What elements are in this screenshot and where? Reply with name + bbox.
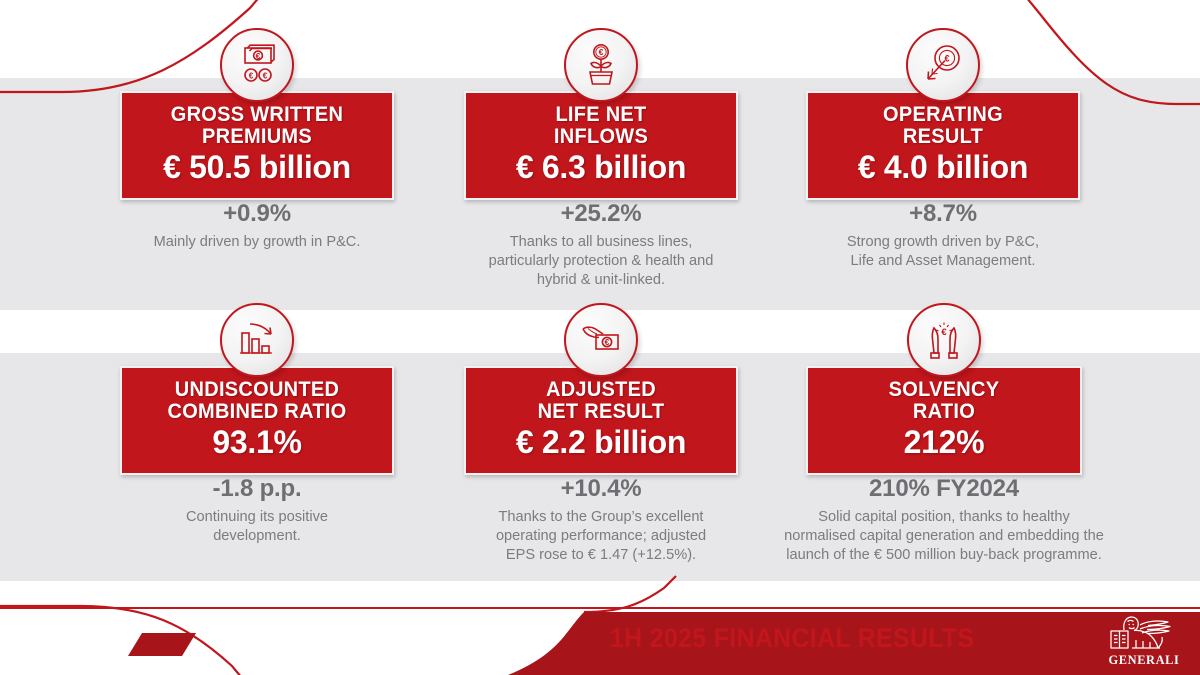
svg-text:€: € bbox=[249, 71, 254, 80]
euro-target-arrow-icon: € bbox=[906, 28, 980, 102]
metric-title: GROSS WRITTEN PREMIUMS bbox=[139, 103, 375, 147]
metric-detail: 210% FY2024 Solid capital position, than… bbox=[764, 475, 1124, 565]
svg-text:€: € bbox=[605, 337, 610, 347]
infographic-slide: € € € GROSS WRITTEN PREMIUMS € 50.5 bill… bbox=[0, 0, 1200, 675]
metric-note: Mainly driven by growth in P&C. bbox=[104, 233, 410, 252]
svg-text:€: € bbox=[263, 71, 268, 80]
metric-title: SOLVENCY RATIO bbox=[825, 378, 1063, 422]
metric-plaque: SOLVENCY RATIO 212% bbox=[806, 366, 1082, 475]
metric-note: Thanks to the Group’s excellent operatin… bbox=[448, 508, 754, 565]
banknotes-coins-icon: € € € bbox=[220, 28, 294, 102]
metric-title: OPERATING RESULT bbox=[825, 103, 1061, 147]
metric-delta: +10.4% bbox=[448, 475, 754, 503]
metric-plaque: LIFE NET INFLOWS € 6.3 billion bbox=[464, 91, 738, 200]
metric-delta: +0.9% bbox=[104, 200, 410, 228]
metric-title: LIFE NET INFLOWS bbox=[483, 103, 719, 147]
metric-note: Thanks to all business lines, particular… bbox=[448, 233, 754, 290]
metrics-grid: € € € GROSS WRITTEN PREMIUMS € 50.5 bill… bbox=[0, 0, 1200, 600]
svg-text:€: € bbox=[599, 47, 604, 57]
metric-plaque: GROSS WRITTEN PREMIUMS € 50.5 billion bbox=[120, 91, 394, 200]
metric-title: UNDISCOUNTED COMBINED RATIO bbox=[139, 378, 375, 422]
metric-delta: 210% FY2024 bbox=[764, 475, 1124, 503]
metric-value: € 50.5 billion bbox=[130, 150, 384, 186]
metric-note: Continuing its positive development. bbox=[116, 508, 398, 546]
generali-wordmark: GENERALI bbox=[1102, 653, 1186, 668]
hand-euro-banknote-icon: € bbox=[564, 303, 638, 377]
generali-logo[interactable]: GENERALI bbox=[1102, 611, 1186, 669]
metric-delta: -1.8 p.p. bbox=[116, 475, 398, 503]
metric-value: 212% bbox=[816, 425, 1072, 461]
metric-value: € 6.3 billion bbox=[474, 150, 728, 186]
metric-value: 93.1% bbox=[130, 425, 384, 461]
metric-note: Solid capital position, thanks to health… bbox=[764, 508, 1124, 565]
hands-holding-euro-icon: € bbox=[907, 303, 981, 377]
metric-note: Strong growth driven by P&C, Life and As… bbox=[790, 233, 1096, 271]
metric-plaque: ADJUSTED NET RESULT € 2.2 billion bbox=[464, 366, 738, 475]
svg-text:€: € bbox=[941, 327, 947, 338]
euro-plant-growth-icon: € bbox=[564, 28, 638, 102]
metric-delta: +25.2% bbox=[448, 200, 754, 228]
metric-detail: +10.4% Thanks to the Group’s excellent o… bbox=[448, 475, 754, 565]
metric-plaque: OPERATING RESULT € 4.0 billion bbox=[806, 91, 1080, 200]
svg-text:€: € bbox=[256, 51, 261, 61]
metric-value: € 4.0 billion bbox=[816, 150, 1070, 186]
winged-lion-icon bbox=[1102, 611, 1186, 657]
metric-detail: -1.8 p.p. Continuing its positive develo… bbox=[116, 475, 398, 546]
metric-detail: +0.9% Mainly driven by growth in P&C. bbox=[104, 200, 410, 252]
metric-value: € 2.2 billion bbox=[474, 425, 728, 461]
svg-text:€: € bbox=[944, 53, 949, 63]
metric-delta: +8.7% bbox=[790, 200, 1096, 228]
metric-detail: +25.2% Thanks to all business lines, par… bbox=[448, 200, 754, 290]
metric-detail: +8.7% Strong growth driven by P&C, Life … bbox=[790, 200, 1096, 271]
footer-title: 1H 2025 FINANCIAL RESULTS bbox=[610, 623, 974, 654]
metric-plaque: UNDISCOUNTED COMBINED RATIO 93.1% bbox=[120, 366, 394, 475]
declining-bar-chart-icon bbox=[220, 303, 294, 377]
footer-rule bbox=[0, 607, 1200, 609]
metric-title: ADJUSTED NET RESULT bbox=[483, 378, 719, 422]
